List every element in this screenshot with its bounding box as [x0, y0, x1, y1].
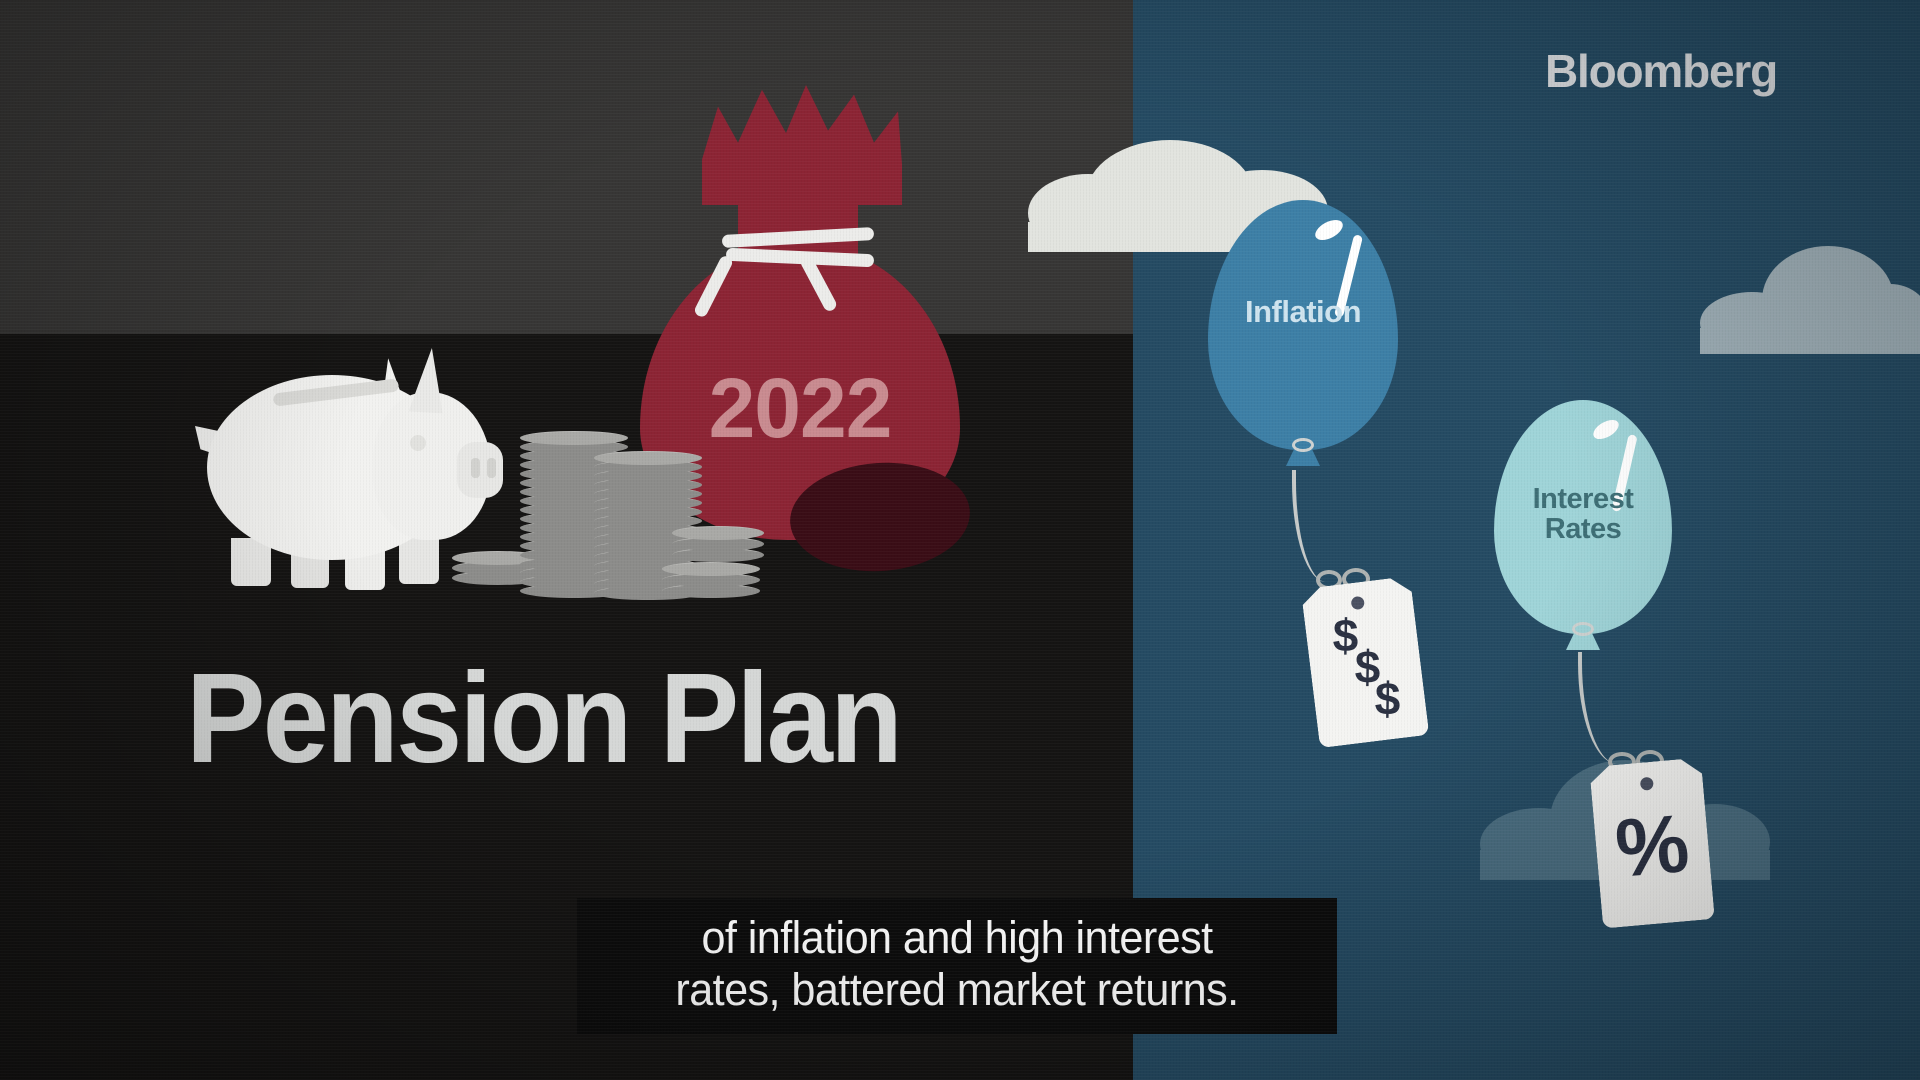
balloon-interest-rates-label-line1: Interest — [1494, 484, 1672, 514]
piggy-eye — [410, 435, 426, 451]
balloon-interest-rates-loop — [1572, 622, 1594, 636]
piggy-leg-4 — [399, 536, 439, 584]
balloon-inflation-label: Inflation — [1208, 296, 1398, 329]
balloon-inflation-loop — [1292, 438, 1314, 452]
page-title: Pension Plan — [186, 655, 900, 783]
caption-box: of inflation and high interest rates, ba… — [577, 898, 1337, 1034]
bloomberg-logo: Bloomberg — [1545, 44, 1777, 98]
balloon-inflation: Inflation — [1208, 200, 1398, 450]
dollar-tag: $ $ $ — [1301, 576, 1430, 748]
piggy-nostril-2 — [487, 458, 496, 478]
piggy-nostril-1 — [471, 458, 480, 478]
cloud-gray-right-icon — [1700, 246, 1920, 354]
balloon-interest-rates-label-line2: Rates — [1494, 514, 1672, 544]
percent-tag: % — [1589, 757, 1715, 928]
balloon-interest-rates: Interest Rates — [1494, 400, 1672, 634]
piggy-bank-icon — [195, 330, 500, 605]
percent-symbol: % — [1593, 801, 1712, 892]
video-frame: 2022 — [0, 0, 1920, 1080]
caption-line-1: of inflation and high interest — [609, 912, 1304, 964]
piggy-snout — [457, 442, 503, 498]
coin-stack-right-lower — [662, 556, 760, 602]
dollar-symbol-3: $ — [1332, 671, 1443, 727]
caption-line-2: rates, battered market returns. — [609, 964, 1304, 1016]
